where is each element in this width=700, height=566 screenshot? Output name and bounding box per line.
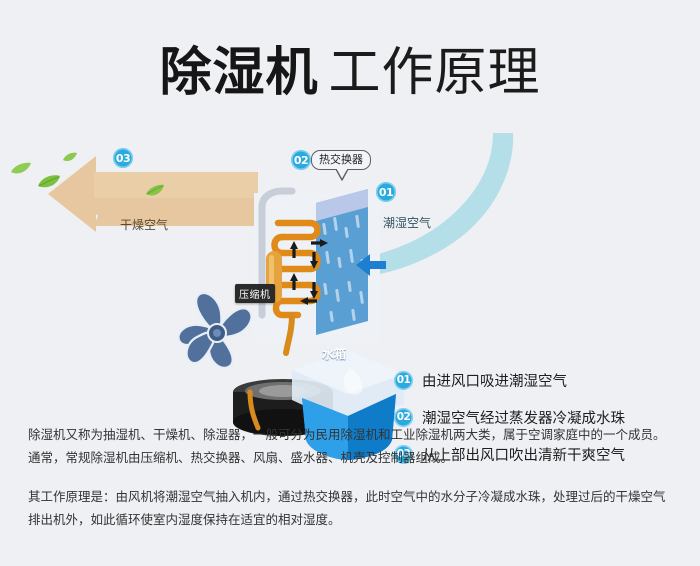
infographic-page: 除湿机工作原理	[0, 0, 700, 566]
badge-02: 02	[291, 150, 311, 170]
badge-01: 01	[376, 182, 396, 202]
illustration-stage: 热交换器 干燥空气 潮湿空气 压缩机 水箱 03 02 01 01 由进风口吸进…	[0, 110, 700, 400]
leaf-icon	[10, 162, 32, 176]
badge-03: 03	[113, 148, 133, 168]
body-text-block: 除湿机又称为抽湿机、干燥机、除湿器，一般可分为民用除湿机和工业除湿机两大类，属于…	[28, 423, 676, 531]
humid-air-label: 潮湿空气	[383, 214, 431, 231]
dry-air-label: 干燥空气	[120, 216, 168, 233]
compressor-label: 压缩机	[235, 284, 275, 303]
dehumidifier-unit	[248, 165, 388, 365]
callout-tail-icon	[335, 168, 349, 180]
body-paragraph-1: 除湿机又称为抽湿机、干燥机、除湿器，一般可分为民用除湿机和工业除湿机两大类，属于…	[28, 423, 676, 469]
humid-air-arrow	[365, 125, 590, 285]
page-title-secondary: 工作原理	[329, 43, 541, 103]
leaf-icon	[145, 184, 165, 198]
leaf-icon	[36, 174, 62, 190]
legend-badge-01: 01	[394, 371, 413, 390]
legend-item-01: 01 由进风口吸进潮湿空气	[394, 368, 625, 392]
body-paragraph-2: 其工作原理是：由风机将潮湿空气抽入机内，通过热交换器，此时空气中的水分子冷凝成水…	[28, 485, 676, 531]
legend-text-01: 由进风口吸进潮湿空气	[422, 370, 567, 391]
page-title-primary: 除湿机	[159, 43, 318, 103]
leaf-icon	[62, 152, 78, 163]
water-tank-label: 水箱	[322, 345, 346, 362]
dry-air-arrow	[28, 148, 258, 268]
page-title: 除湿机工作原理	[0, 30, 700, 105]
